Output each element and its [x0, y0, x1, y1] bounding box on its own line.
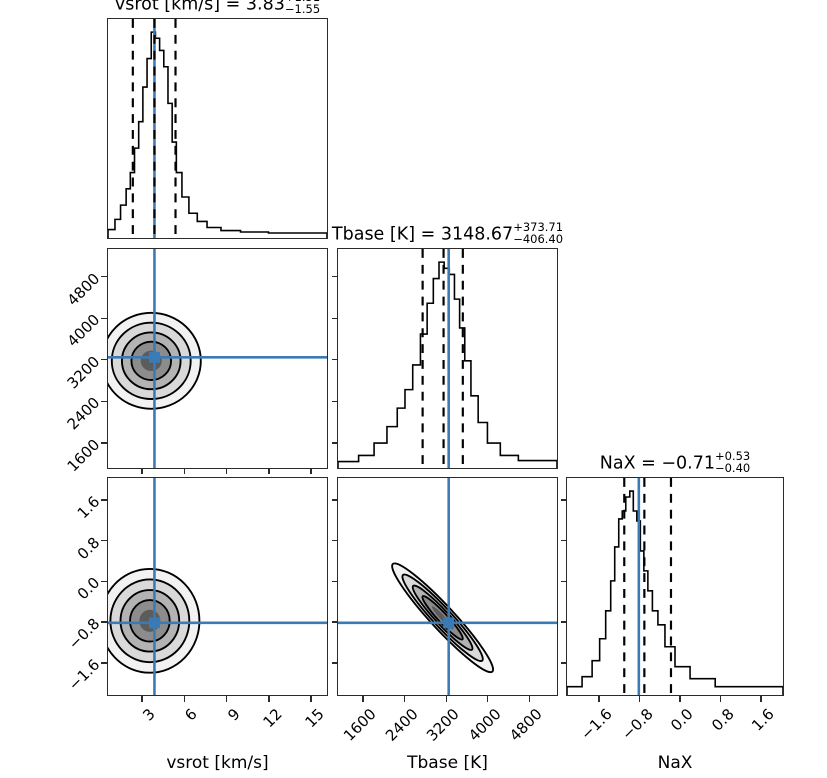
title-value-vsrot: 3.83 [246, 0, 285, 15]
x-tickmark-tbase-2 [446, 696, 447, 702]
x-tickmark-tbase-1 [404, 696, 405, 702]
axis-label-vsrot: vsrot [km/s] [107, 753, 328, 773]
panel-marginal-nax [566, 477, 784, 696]
x-tick-label-nax-0: −1.6 [569, 705, 616, 752]
marginal-histogram-nax [567, 478, 783, 695]
x-tick-label-tbase-4: 4800 [499, 705, 546, 752]
y-tickmark-tbase-1 [101, 401, 107, 402]
title-tbase: Tbase [K] = 3148.67+373.71−406.40 [257, 223, 638, 246]
y-tick-label-tbase-0: 1600 [52, 436, 103, 487]
x-tick-label-vsrot-4: 15 [281, 705, 328, 752]
title-errors-nax: +0.53−0.40 [715, 451, 750, 474]
axis-label-nax: NaX [566, 753, 784, 773]
panel-x-tickmark-vsrot-1-4 [310, 469, 311, 474]
title-label-vsrot: vsrot [km/s] = [115, 0, 246, 15]
panel-y-tickmark-nax-1-4 [332, 499, 337, 500]
x-tick-label-vsrot-2: 9 [197, 705, 244, 752]
title-lower-error-nax: −0.40 [715, 463, 750, 475]
panel-y-tickmark-nax-2-4 [561, 499, 566, 500]
x-tickmark-vsrot-2 [226, 696, 227, 702]
panel-y-tickmark-nax-1-2 [332, 581, 337, 582]
title-lower-error-vsrot: −1.55 [285, 4, 320, 16]
y-tickmark-nax-4 [101, 499, 107, 500]
x-tick-label-tbase-1: 2400 [375, 705, 422, 752]
x-tick-label-vsrot-3: 12 [239, 705, 286, 752]
x-tickmark-tbase-3 [487, 696, 488, 702]
panel-y-tickmark-nax-1-1 [332, 621, 337, 622]
panel-joint-vsrot-nax [107, 477, 328, 696]
x-tick-label-tbase-0: 1600 [333, 705, 380, 752]
x-tickmark-nax-2 [679, 696, 680, 702]
panel-y-tickmark-tbase-1-0 [332, 442, 337, 443]
panel-y-tickmark-tbase-1-3 [332, 318, 337, 319]
y-tickmark-tbase-3 [101, 318, 107, 319]
y-tick-label-nax-3: 0.8 [52, 533, 103, 584]
x-tick-label-nax-2: 0.0 [650, 705, 697, 752]
title-value-tbase: 3148.67 [441, 225, 513, 245]
x-tick-label-nax-1: −0.8 [610, 705, 657, 752]
title-lower-error-tbase: −406.40 [513, 234, 563, 246]
truth-marker [149, 617, 160, 628]
x-tickmark-vsrot-1 [184, 696, 185, 702]
x-tickmark-vsrot-4 [310, 696, 311, 702]
x-tick-label-nax-3: 0.8 [691, 705, 738, 752]
x-tick-label-tbase-2: 3200 [416, 705, 463, 752]
panel-y-tickmark-tbase-1-2 [332, 359, 337, 360]
panel-y-tickmark-nax-2-2 [561, 581, 566, 582]
x-tickmark-vsrot-0 [141, 696, 142, 702]
joint-density-vsrot-nax [108, 478, 327, 695]
title-value-nax: −0.71 [661, 454, 715, 474]
title-errors-vsrot: +1.51−1.55 [285, 0, 320, 15]
y-tickmark-nax-1 [101, 621, 107, 622]
y-tick-label-nax-1: −0.8 [52, 615, 103, 666]
truth-marker [149, 352, 160, 363]
x-tickmark-tbase-4 [529, 696, 530, 702]
title-errors-tbase: +373.71−406.40 [513, 222, 563, 245]
panel-y-tickmark-nax-2-0 [561, 662, 566, 663]
y-tickmark-nax-3 [101, 540, 107, 541]
x-tickmark-nax-0 [598, 696, 599, 702]
panel-y-tickmark-nax-2-1 [561, 621, 566, 622]
panel-y-tickmark-tbase-1-1 [332, 401, 337, 402]
x-tickmark-nax-4 [760, 696, 761, 702]
panel-x-tickmark-vsrot-1-3 [268, 469, 269, 474]
x-tickmark-tbase-0 [362, 696, 363, 702]
panel-y-tickmark-nax-2-3 [561, 540, 566, 541]
y-tick-label-nax-4: 1.6 [52, 493, 103, 544]
x-tick-label-tbase-3: 4000 [458, 705, 505, 752]
title-nax: NaX = −0.71+0.53−0.40 [486, 452, 827, 475]
corner-plot-figure: vsrot [km/s] = 3.83+1.51−1.55Tbase [K] =… [0, 0, 827, 778]
y-tickmark-nax-2 [101, 581, 107, 582]
x-tick-label-nax-4: 1.6 [731, 705, 778, 752]
joint-density-vsrot-tbase [108, 249, 327, 468]
title-label-nax: NaX = [600, 454, 662, 474]
x-tickmark-vsrot-3 [268, 696, 269, 702]
panel-y-tickmark-nax-1-0 [332, 662, 337, 663]
joint-density-tbase-nax [338, 478, 557, 695]
y-tickmark-nax-0 [101, 662, 107, 663]
y-tick-label-tbase-4: 4800 [52, 269, 103, 320]
panel-marginal-vsrot [107, 18, 328, 239]
y-tickmark-tbase-2 [101, 359, 107, 360]
y-tick-label-nax-2: 0.0 [52, 574, 103, 625]
marginal-histogram-tbase [338, 249, 557, 468]
y-tick-label-tbase-1: 2400 [52, 394, 103, 445]
title-vsrot: vsrot [km/s] = 3.83+1.51−1.55 [27, 0, 408, 16]
panel-joint-vsrot-tbase [107, 248, 328, 469]
panel-y-tickmark-tbase-1-4 [332, 276, 337, 277]
panel-x-tickmark-vsrot-1-0 [141, 469, 142, 474]
y-tick-label-tbase-2: 3200 [52, 352, 103, 403]
x-tick-label-vsrot-0: 3 [112, 705, 159, 752]
y-tickmark-tbase-0 [101, 442, 107, 443]
panel-joint-tbase-nax [337, 477, 558, 696]
panel-x-tickmark-vsrot-1-1 [184, 469, 185, 474]
x-tick-label-vsrot-1: 6 [154, 705, 201, 752]
panel-x-tickmark-vsrot-1-2 [226, 469, 227, 474]
x-tickmark-nax-1 [639, 696, 640, 702]
y-tickmark-tbase-4 [101, 276, 107, 277]
x-tickmark-nax-3 [720, 696, 721, 702]
marginal-histogram-vsrot [108, 19, 327, 238]
truth-marker [443, 617, 454, 628]
y-tick-label-tbase-3: 4000 [52, 311, 103, 362]
axis-label-tbase: Tbase [K] [337, 753, 558, 773]
panel-marginal-tbase [337, 248, 558, 469]
panel-y-tickmark-nax-1-3 [332, 540, 337, 541]
y-tick-label-nax-0: −1.6 [52, 656, 103, 707]
title-label-tbase: Tbase [K] = [332, 225, 441, 245]
